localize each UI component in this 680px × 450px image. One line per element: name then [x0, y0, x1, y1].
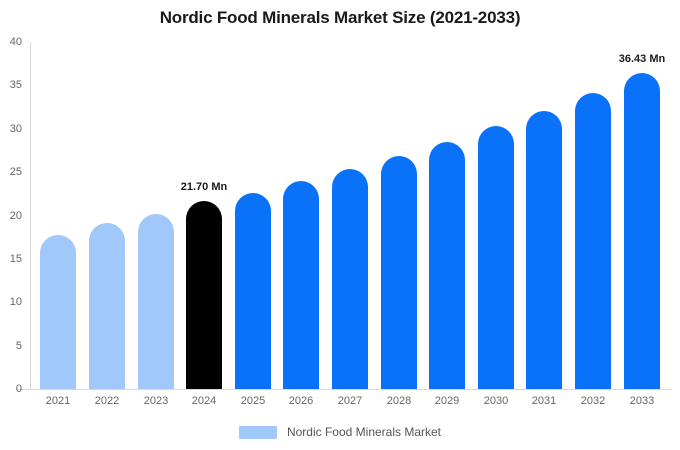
chart-legend: Nordic Food Minerals Market	[0, 425, 680, 439]
y-axis-tick-30: 30	[10, 123, 22, 135]
x-axis-tick-2031: 2031	[526, 395, 562, 407]
bar-2031[interactable]	[526, 111, 562, 389]
bar-2029[interactable]	[429, 142, 465, 389]
bar-2025[interactable]	[235, 193, 271, 389]
bar-2032[interactable]	[575, 93, 611, 389]
y-axis-tick-0: 0	[16, 383, 22, 395]
x-axis-tick-2023: 2023	[138, 395, 174, 407]
x-axis-tick-2021: 2021	[40, 395, 76, 407]
bar-group-2022[interactable]	[89, 42, 125, 389]
x-axis-tick-2022: 2022	[89, 395, 125, 407]
bar-group-2032[interactable]	[575, 42, 611, 389]
bar-group-2031[interactable]	[526, 42, 562, 389]
bar-value-label-2024: 21.70 Mn	[181, 181, 227, 193]
bars-layer: 21.70 Mn36.43 Mn	[30, 42, 672, 389]
bar-chart: Nordic Food Minerals Market Size (2021-2…	[0, 0, 680, 450]
bar-group-2024[interactable]: 21.70 Mn	[186, 42, 222, 389]
bar-2022[interactable]	[89, 223, 125, 389]
legend-swatch-icon	[239, 426, 277, 439]
bar-group-2021[interactable]	[40, 42, 76, 389]
x-axis-line	[16, 389, 672, 390]
bar-2033[interactable]	[624, 73, 660, 389]
bar-group-2028[interactable]	[381, 42, 417, 389]
bar-group-2026[interactable]	[283, 42, 319, 389]
x-axis-tick-2026: 2026	[283, 395, 319, 407]
bar-group-2030[interactable]	[478, 42, 514, 389]
y-axis-tick-20: 20	[10, 210, 22, 222]
x-axis-tick-2028: 2028	[381, 395, 417, 407]
x-axis-tick-2032: 2032	[575, 395, 611, 407]
legend-item[interactable]: Nordic Food Minerals Market	[239, 425, 441, 439]
y-axis-tick-40: 40	[10, 36, 22, 48]
bar-2023[interactable]	[138, 214, 174, 389]
x-axis-tick-labels: 2021202220232024202520262027202820292030…	[30, 395, 672, 415]
x-axis-tick-2025: 2025	[235, 395, 271, 407]
bar-group-2027[interactable]	[332, 42, 368, 389]
bar-group-2033[interactable]: 36.43 Mn	[624, 42, 660, 389]
x-axis-tick-2029: 2029	[429, 395, 465, 407]
bar-2027[interactable]	[332, 169, 368, 389]
bar-group-2029[interactable]	[429, 42, 465, 389]
bar-value-label-2033: 36.43 Mn	[619, 53, 665, 65]
bar-group-2025[interactable]	[235, 42, 271, 389]
bar-2021[interactable]	[40, 235, 76, 389]
y-axis-tick-10: 10	[10, 296, 22, 308]
x-axis-tick-2024: 2024	[186, 395, 222, 407]
chart-title: Nordic Food Minerals Market Size (2021-2…	[0, 8, 680, 28]
bar-group-2023[interactable]	[138, 42, 174, 389]
y-axis-tick-15: 15	[10, 253, 22, 265]
x-axis-tick-2033: 2033	[624, 395, 660, 407]
x-axis-tick-2027: 2027	[332, 395, 368, 407]
y-axis-tick-5: 5	[16, 340, 22, 352]
bar-2030[interactable]	[478, 126, 514, 389]
legend-label: Nordic Food Minerals Market	[287, 425, 441, 439]
bar-2026[interactable]	[283, 181, 319, 389]
bar-2028[interactable]	[381, 156, 417, 389]
x-axis-tick-2030: 2030	[478, 395, 514, 407]
y-axis-tick-25: 25	[10, 166, 22, 178]
bar-2024[interactable]	[186, 201, 222, 389]
y-axis-tick-35: 35	[10, 79, 22, 91]
